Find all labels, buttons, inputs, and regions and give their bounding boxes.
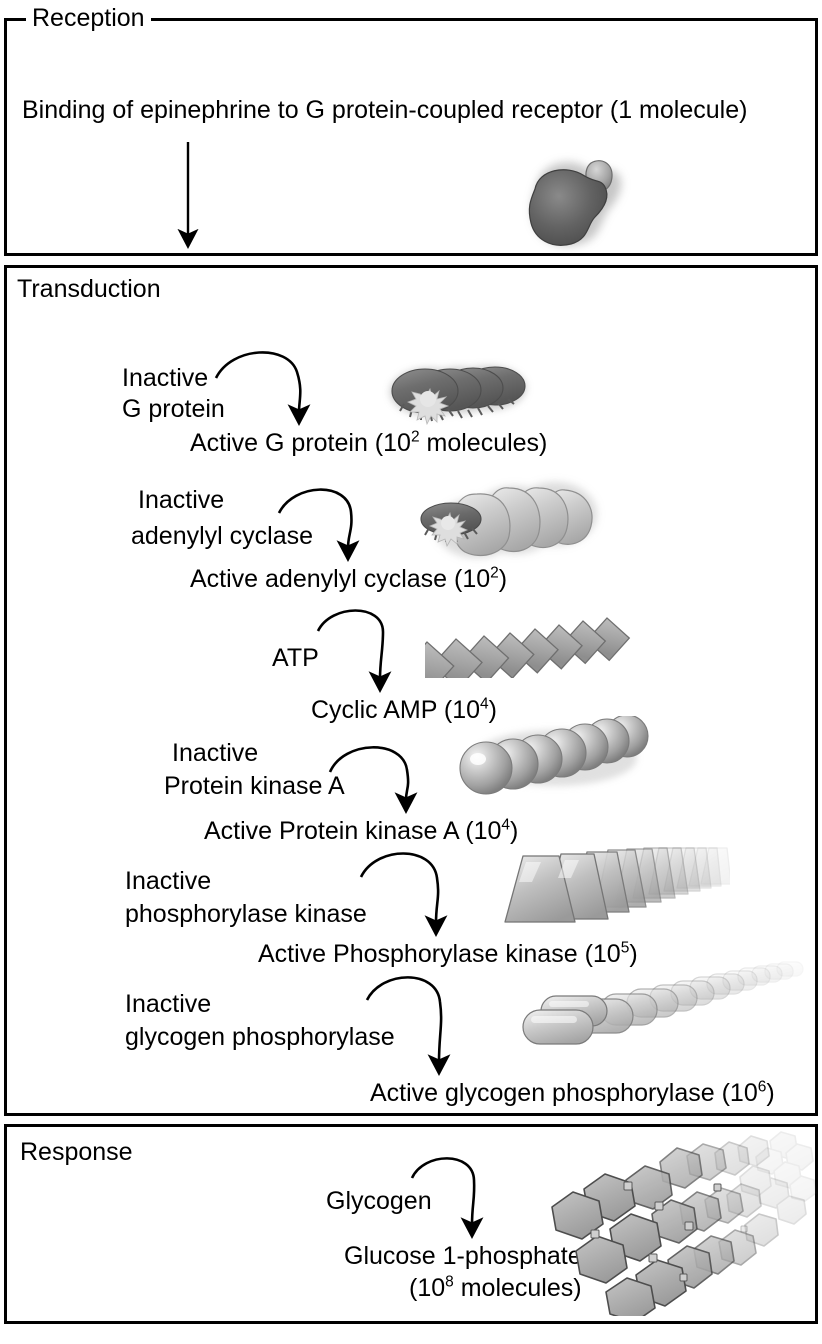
active-glycogen-phosphorylase-suffix: ) <box>766 1079 774 1107</box>
inactive-g-protein-line1: Inactive <box>122 363 208 393</box>
glucose-count-exponent: 8 <box>445 1274 454 1291</box>
inactive-phosphorylase-kinase-line1: Inactive <box>125 866 211 896</box>
g-protein-cluster-icon <box>378 358 548 436</box>
reception-step-text: Binding of epinephrine to G protein-coup… <box>22 95 747 125</box>
inactive-protein-kinase-a-line1: Inactive <box>172 738 258 768</box>
glycogen-phosphorylase-capsules-icon <box>505 958 805 1054</box>
protein-kinase-a-spheres-icon <box>455 716 655 804</box>
inactive-phosphorylase-kinase-line2: phosphorylase kinase <box>125 899 367 929</box>
active-glycogen-phosphorylase-text: Active glycogen phosphorylase (106) <box>370 1078 775 1108</box>
glycogen-substrate-label: Glycogen <box>326 1186 432 1216</box>
inactive-adenylyl-cyclase-line2: adenylyl cyclase <box>131 521 313 551</box>
glycogen-hexagon-cluster-icon <box>545 1126 817 1316</box>
glucose-count-prefix: (10 <box>409 1274 445 1302</box>
inactive-glycogen-phosphorylase-line1: Inactive <box>125 989 211 1019</box>
reception-stage-label: Reception <box>26 4 151 32</box>
inactive-adenylyl-cyclase-line1: Inactive <box>138 485 224 515</box>
reception-stage-box <box>4 18 818 256</box>
signal-transduction-figure: Reception Transduction Response Binding … <box>0 0 822 1344</box>
cyclic-amp-exponent: 4 <box>480 696 489 713</box>
inactive-glycogen-phosphorylase-line2: glycogen phosphorylase <box>125 1022 395 1052</box>
active-protein-kinase-a-exponent: 4 <box>501 817 510 834</box>
transduction-stage-label: Transduction <box>17 275 161 303</box>
active-glycogen-phosphorylase-label: Active glycogen phosphorylase (10 <box>370 1079 758 1107</box>
active-protein-kinase-a-label: Active Protein kinase A (10 <box>204 817 501 845</box>
inactive-protein-kinase-a-line2: Protein kinase A <box>164 771 345 801</box>
atp-label: ATP <box>272 643 319 673</box>
cyclic-amp-diamonds-icon <box>425 606 640 678</box>
epinephrine-receptor-blob-icon <box>505 145 645 260</box>
response-stage-label: Response <box>20 1138 133 1166</box>
adenylyl-cyclase-cluster-icon <box>415 472 610 570</box>
inactive-g-protein-line2: G protein <box>122 394 225 424</box>
phosphorylase-kinase-triangles-icon <box>495 840 730 932</box>
active-protein-kinase-a-text: Active Protein kinase A (104) <box>204 816 518 846</box>
